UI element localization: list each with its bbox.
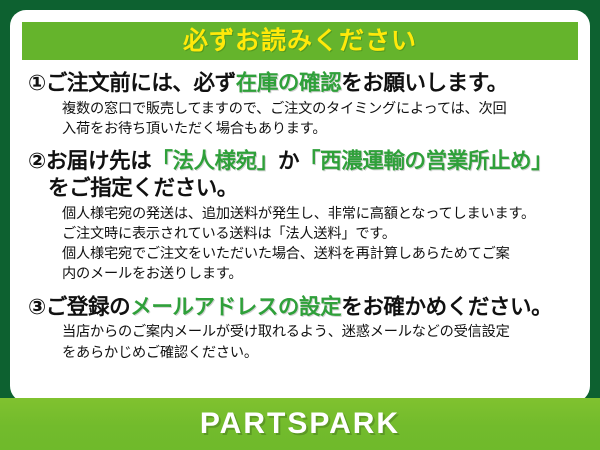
notice-item-3-heading: ③ご登録のメールアドレスの設定をお確かめください。 [28, 294, 572, 321]
notice-item-2-heading-highlight-2: 「西濃運輸の営業所止め」 [299, 149, 552, 173]
page-title: 必ずお読みください [183, 29, 417, 54]
notice-item-3-body-line-1: 当店からのご案内メールが受け取れるよう、迷惑メールなどの受信設定 [62, 322, 572, 342]
notice-item-2-heading: ②お届け先は「法人様宛」か「西濃運輸の営業所止め」 をご指定ください。 [28, 148, 572, 202]
notice-panel: 必ずお読みください ①ご注文前には、必ず在庫の確認をお願いします。 複数の窓口で… [10, 10, 590, 402]
notice-title-bar: 必ずお読みください [22, 22, 578, 60]
notice-item-1-body-line-1: 複数の窓口で販売してますので、ご注文のタイミングによっては、次回 [62, 99, 572, 119]
brand-footer: PARTSPARK [0, 398, 600, 450]
notice-item-3-body: 当店からのご案内メールが受け取れるよう、迷惑メールなどの受信設定 をあらかじめご… [28, 322, 572, 362]
notice-item-3-heading-part-1: ご登録の [46, 295, 130, 319]
notice-item-2-body-line-3: 個人様宅宛でご注文をいただいた場合、送料を再計算しあらためてご案 [62, 244, 572, 264]
notice-item-1-heading-highlight: 在庫の確認 [236, 71, 342, 95]
notice-item-2-body-line-4: 内のメールをお送りします。 [62, 264, 572, 284]
notice-item-2-heading-part-1: お届け先は [46, 149, 152, 173]
notice-item-3-body-line-2: をあらかじめご確認ください。 [62, 343, 572, 363]
notice-item-1-body-line-2: 入荷をお待ち頂いただく場合もあります。 [62, 119, 572, 139]
notice-item-3: ③ご登録のメールアドレスの設定をお確かめください。 当店からのご案内メールが受け… [28, 294, 572, 363]
notice-item-2-heading-part-3: か [278, 149, 299, 173]
notice-item-3-heading-highlight: メールアドレスの設定 [130, 295, 341, 319]
notice-item-1-heading: ①ご注文前には、必ず在庫の確認をお願いします。 [28, 70, 572, 97]
notice-item-3-heading-part-3: をお確かめください。 [341, 295, 552, 319]
notice-banner: 必ずお読みください ①ご注文前には、必ず在庫の確認をお願いします。 複数の窓口で… [0, 0, 600, 450]
notice-item-2: ②お届け先は「法人様宛」か「西濃運輸の営業所止め」 をご指定ください。 個人様宅… [28, 148, 572, 284]
brand-name: PARTSPARK [200, 409, 400, 439]
notice-item-2-body: 個人様宅宛の発送は、追加送料が発生し、非常に高額となってしまいます。 ご注文時に… [28, 204, 572, 285]
notice-item-2-number: ② [28, 149, 46, 173]
notice-item-1-body: 複数の窓口で販売してますので、ご注文のタイミングによっては、次回 入荷をお待ち頂… [28, 99, 572, 139]
notice-item-2-heading-highlight-1: 「法人様宛」 [151, 149, 278, 173]
notice-item-2-body-line-2: ご注文時に表示されている送料は「法人送料」です。 [62, 224, 572, 244]
notice-item-3-number: ③ [28, 295, 46, 319]
notice-item-2-heading-line-2: をご指定ください。 [28, 175, 572, 202]
notice-item-1-heading-part-1: ご注文前には、必ず [46, 71, 236, 95]
notice-item-1-number: ① [28, 71, 46, 95]
notice-item-list: ①ご注文前には、必ず在庫の確認をお願いします。 複数の窓口で販売してますので、ご… [22, 70, 578, 363]
notice-item-1: ①ご注文前には、必ず在庫の確認をお願いします。 複数の窓口で販売してますので、ご… [28, 70, 572, 139]
notice-item-1-heading-part-3: をお願いします。 [341, 71, 508, 95]
notice-item-2-body-line-1: 個人様宅宛の発送は、追加送料が発生し、非常に高額となってしまいます。 [62, 204, 572, 224]
